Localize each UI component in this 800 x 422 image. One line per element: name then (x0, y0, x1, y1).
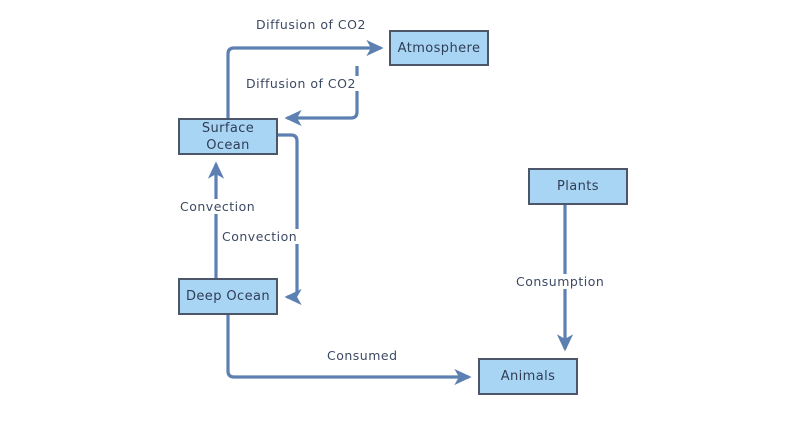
node-atmosphere[interactable]: Atmosphere (389, 30, 489, 66)
node-plants[interactable]: Plants (528, 168, 628, 205)
edge-label-plants-to-animals: Consumption (513, 274, 607, 289)
edge-surface-to-deep (278, 135, 297, 297)
node-animals[interactable]: Animals (478, 358, 578, 395)
node-deep-ocean[interactable]: Deep Ocean (178, 278, 278, 315)
node-animals-label: Animals (480, 368, 576, 385)
edge-label-deep-to-surface: Convection (177, 199, 258, 214)
edge-label-atmosphere-to-surface: Diffusion of CO2 (243, 76, 359, 91)
edge-atmosphere-to-surface (287, 66, 357, 118)
diagram-canvas: Atmosphere Surface Ocean Deep Ocean Plan… (0, 0, 800, 422)
edge-deep-to-animals (228, 315, 469, 377)
node-surface-ocean-label-line1: Surface (180, 120, 276, 137)
node-atmosphere-label: Atmosphere (391, 40, 487, 57)
node-deep-ocean-label: Deep Ocean (180, 288, 276, 305)
edge-label-surface-to-deep: Convection (219, 229, 300, 244)
edge-label-deep-to-animals: Consumed (324, 348, 401, 363)
edge-label-surface-to-atmosphere: Diffusion of CO2 (253, 17, 369, 32)
node-surface-ocean[interactable]: Surface Ocean (178, 118, 278, 155)
node-surface-ocean-label-line2: Ocean (180, 137, 276, 154)
node-plants-label: Plants (530, 178, 626, 195)
